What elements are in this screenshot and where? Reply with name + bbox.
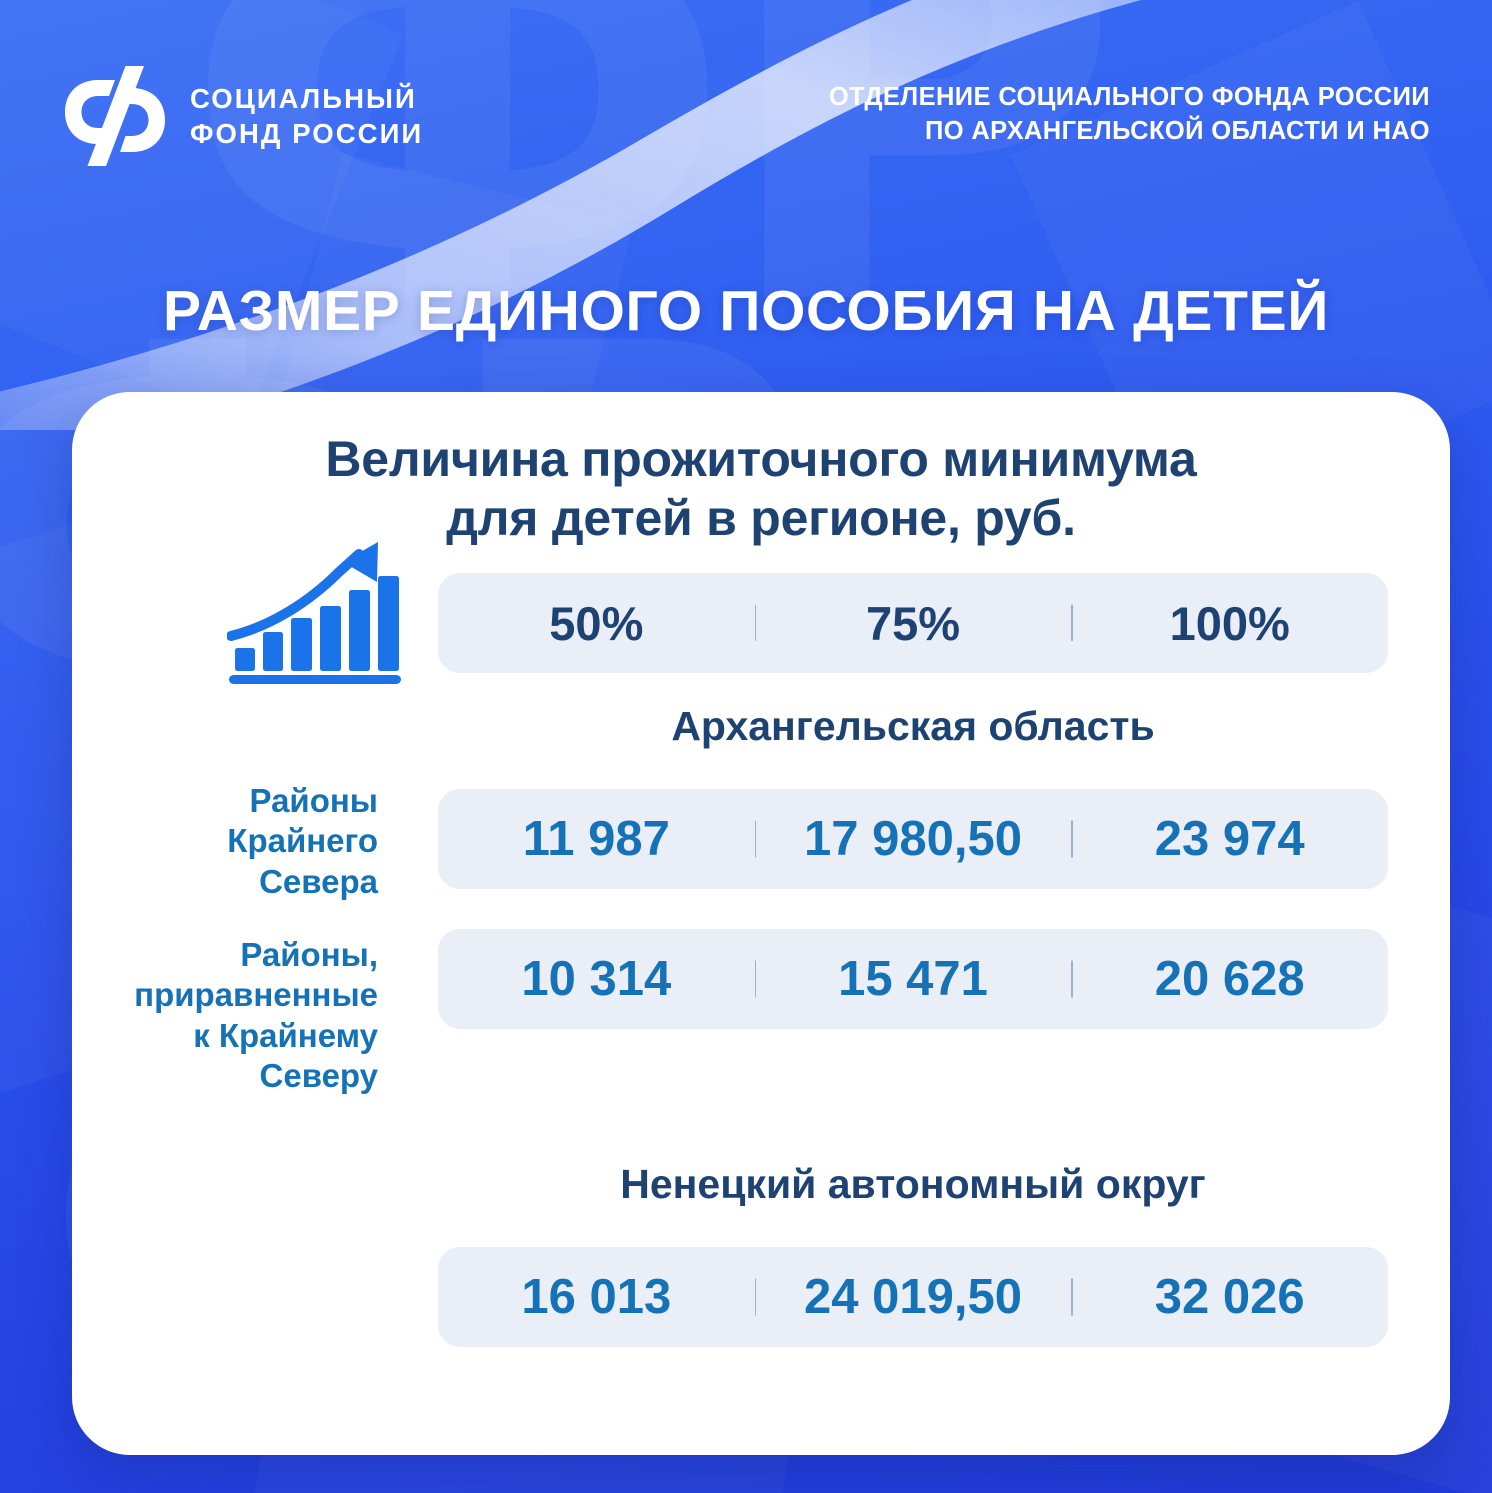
row-label-equated-to-far-north: Районы, приравненные к Крайнему Северу — [78, 935, 378, 1096]
brand-name: СОЦИАЛЬНЫЙ ФОНД РОССИИ — [190, 81, 423, 151]
table-row-far-north: 11 987 17 980,50 23 974 — [438, 789, 1388, 889]
table-row-equated-to-far-north: 10 314 15 471 20 628 — [438, 929, 1388, 1029]
percent-header-row: 50% 75% 100% — [438, 573, 1388, 673]
region-heading-nao: Ненецкий автономный округ — [438, 1161, 1388, 1208]
value-cell: 20 628 — [1071, 951, 1388, 1007]
org-department-line: ОТДЕЛЕНИЕ СОЦИАЛЬНОГО ФОНДА РОССИИ ПО АР… — [829, 80, 1430, 149]
row-label-far-north: Районы Крайнего Севера — [78, 781, 378, 902]
percent-cell-100: 100% — [1071, 596, 1388, 651]
region-heading-arkhangelsk: Архангельская область — [438, 703, 1388, 750]
value-cell: 15 471 — [755, 951, 1072, 1007]
content-card: Величина прожиточного минимума для детей… — [72, 392, 1450, 1455]
value-cell: 17 980,50 — [755, 811, 1072, 867]
value-cell: 11 987 — [438, 811, 755, 867]
value-cell: 10 314 — [438, 951, 755, 1007]
growth-chart-icon — [227, 540, 407, 690]
brand-block: СОЦИАЛЬНЫЙ ФОНД РОССИИ — [62, 64, 423, 168]
sfr-logo-icon — [62, 64, 168, 168]
percent-cell-50: 50% — [438, 596, 755, 651]
infographic-poster: ФР ФР ФР СОЦИАЛЬНЫЙ ФОНД — [0, 0, 1492, 1493]
page-header: СОЦИАЛЬНЫЙ ФОНД РОССИИ ОТДЕЛЕНИЕ СОЦИАЛЬ… — [0, 56, 1492, 176]
page-title: РАЗМЕР ЕДИНОГО ПОСОБИЯ НА ДЕТЕЙ — [0, 278, 1492, 344]
value-cell: 23 974 — [1071, 811, 1388, 867]
value-cell: 24 019,50 — [755, 1269, 1072, 1325]
card-title: Величина прожиточного минимума для детей… — [72, 430, 1450, 548]
value-cell: 32 026 — [1071, 1269, 1388, 1325]
value-cell: 16 013 — [438, 1269, 755, 1325]
table-row-nao: 16 013 24 019,50 32 026 — [438, 1247, 1388, 1347]
percent-cell-75: 75% — [755, 596, 1072, 651]
